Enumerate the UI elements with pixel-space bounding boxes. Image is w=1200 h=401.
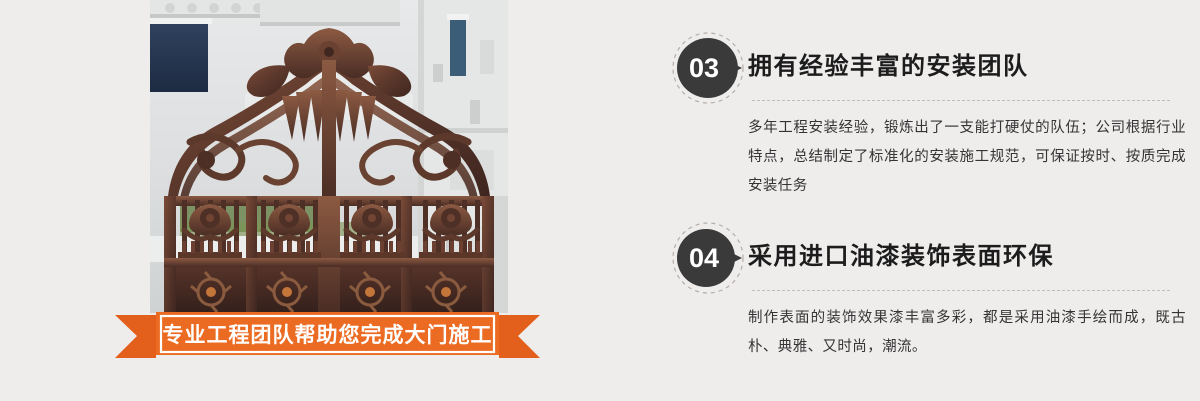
badge-pointer [728, 251, 742, 265]
feature-title-04: 采用进口油漆装饰表面环保 [748, 236, 1054, 271]
badge-circle-icon [670, 220, 746, 296]
badge-03 [670, 30, 746, 106]
ribbon-bar [156, 312, 499, 355]
feature-divider-04 [752, 290, 1170, 292]
ribbon-banner [115, 312, 540, 360]
ribbon-right-tail [492, 315, 540, 358]
feature-body-04: 制作表面的装饰效果漆丰富多彩，都是采用油漆手绘而成，既古朴、典雅、又时尚，潮流。 [748, 304, 1186, 362]
gate-photo [150, 0, 508, 313]
feature-title-03: 拥有经验丰富的安装团队 [748, 46, 1029, 81]
feature-divider-03 [752, 100, 1170, 102]
gate-photo-illustration [150, 0, 508, 313]
promo-banner: 专业工程团队帮助您完成大门施工 03 拥有经验丰富的安装团队 多年工程安装经验，… [0, 0, 1200, 401]
feature-body-03: 多年工程安装经验，锻炼出了一支能打硬仗的队伍；公司根据行业特点，总结制定了标准化… [748, 114, 1186, 201]
badge-04 [670, 220, 746, 296]
feature-list: 03 拥有经验丰富的安装团队 多年工程安装经验，锻炼出了一支能打硬仗的队伍；公司… [660, 0, 1200, 401]
badge-circle-icon [670, 30, 746, 106]
ribbon-shape [115, 312, 540, 360]
